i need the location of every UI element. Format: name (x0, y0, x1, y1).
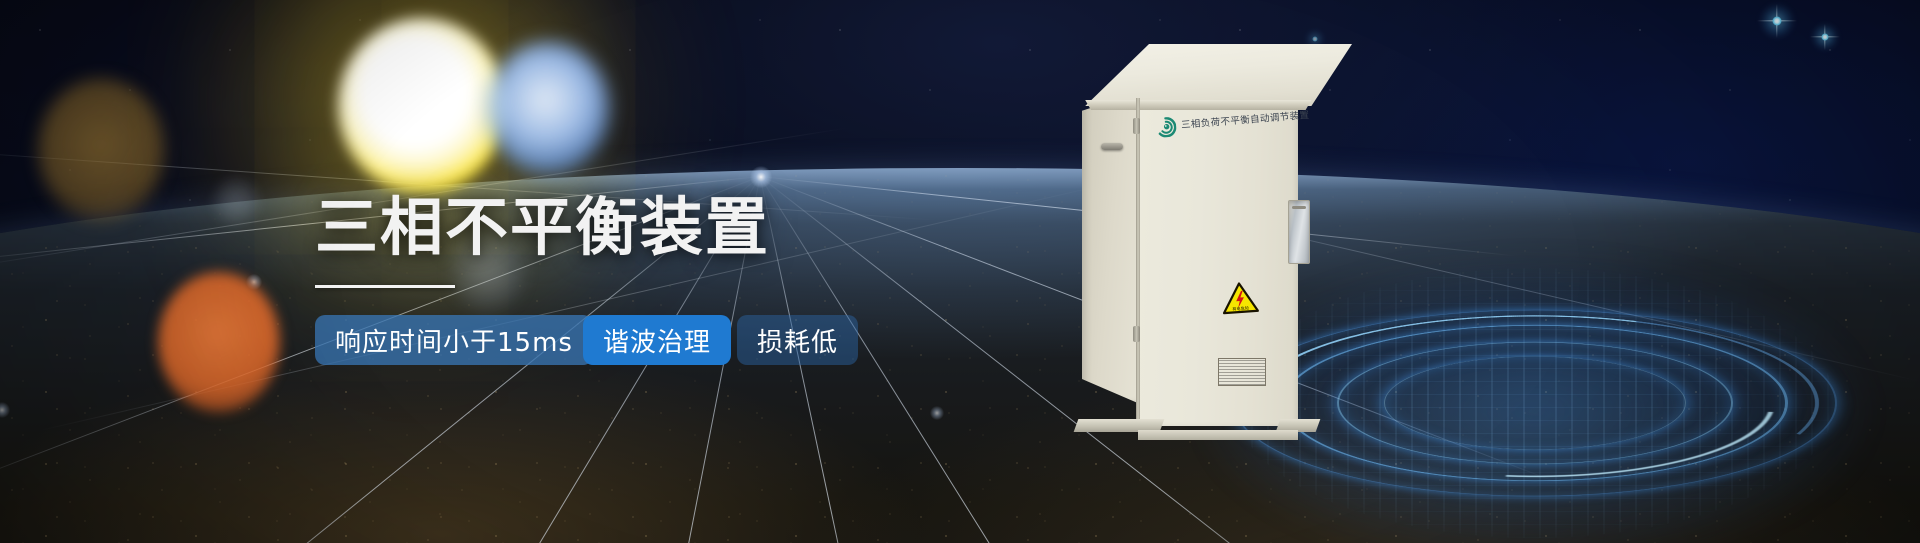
bokeh-orb-orange (158, 272, 280, 412)
banner-headline: 三相不平衡装置 (315, 196, 935, 259)
cabinet-hinge (1133, 326, 1140, 342)
cabinet-side-panel (1082, 92, 1140, 404)
feature-tag-harmonic-treatment[interactable]: 谐波治理 (583, 315, 731, 365)
product-cabinet-image: 三相负荷不平衡自动调节装置 有电危险 (1060, 26, 1360, 426)
circular-swirl-logo-icon (1155, 116, 1177, 138)
bokeh-orb-yellow-white (338, 18, 506, 194)
feature-tag-response-time[interactable]: 响应时间小于15ms (315, 315, 593, 365)
product-hero-banner: 三相负荷不平衡自动调节装置 有电危险 三相不平衡装置 响应时间小于15ms 谐波… (0, 0, 1920, 543)
feature-tag-low-loss[interactable]: 损耗低 (737, 315, 858, 365)
feature-tag-list: 响应时间小于15ms 谐波治理 损耗低 (315, 315, 935, 365)
cabinet-base-lip (1138, 430, 1298, 440)
bokeh-orb-dim-small (214, 178, 258, 226)
electrical-hazard-sticker: 有电危险 (1221, 281, 1259, 315)
cabinet-door-seam (1136, 98, 1140, 424)
cabinet-hinge (1133, 118, 1140, 134)
cabinet-roof (1062, 44, 1352, 106)
cabinet-side-handle (1101, 143, 1123, 150)
bokeh-orb-amber (38, 78, 164, 222)
sparkle-star-icon (1760, 4, 1794, 38)
bokeh-orb-blue (487, 42, 609, 174)
cabinet-door-lock (1288, 200, 1310, 264)
sparkle-star-icon (1812, 24, 1838, 50)
banner-copy-block: 三相不平衡装置 响应时间小于15ms 谐波治理 损耗低 (315, 196, 935, 365)
cabinet-vent-grille (1218, 358, 1266, 386)
headline-underline-rule (315, 285, 455, 288)
